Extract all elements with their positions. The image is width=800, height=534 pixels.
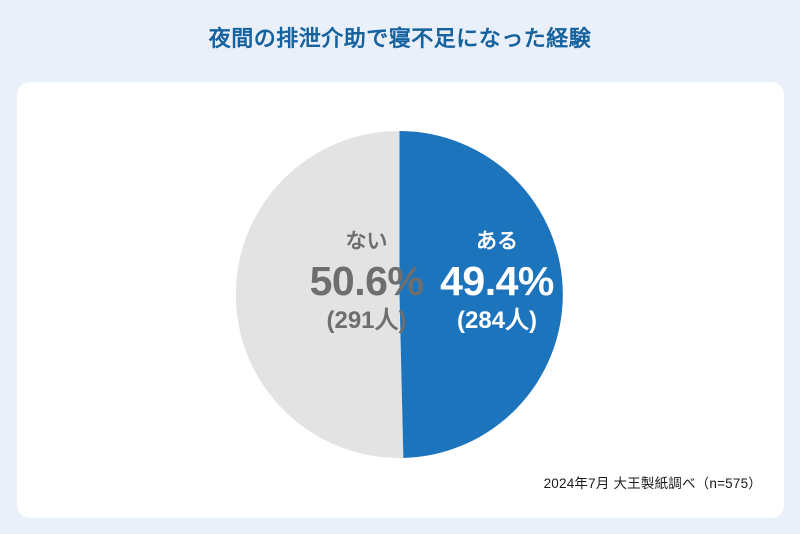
pie-label-aru-percent: 49.4% [417, 261, 577, 302]
pie-chart: ない 50.6% (291人) ある 49.4% (284人) [236, 131, 563, 458]
chart-page: 夜間の排泄介助で寝不足になった経験 ない 50.6% (291人) ある 49.… [0, 0, 800, 534]
page-title: 夜間の排泄介助で寝不足になった経験 [0, 24, 800, 54]
pie-label-aru-name: ある [417, 231, 577, 252]
chart-card: ない 50.6% (291人) ある 49.4% (284人) 2024年7月 … [17, 82, 784, 518]
pie-label-aru: ある 49.4% (284人) [417, 231, 577, 333]
source-note: 2024年7月 大王製紙調べ（n=575） [544, 472, 762, 492]
pie-label-aru-count: (284人) [417, 309, 577, 333]
